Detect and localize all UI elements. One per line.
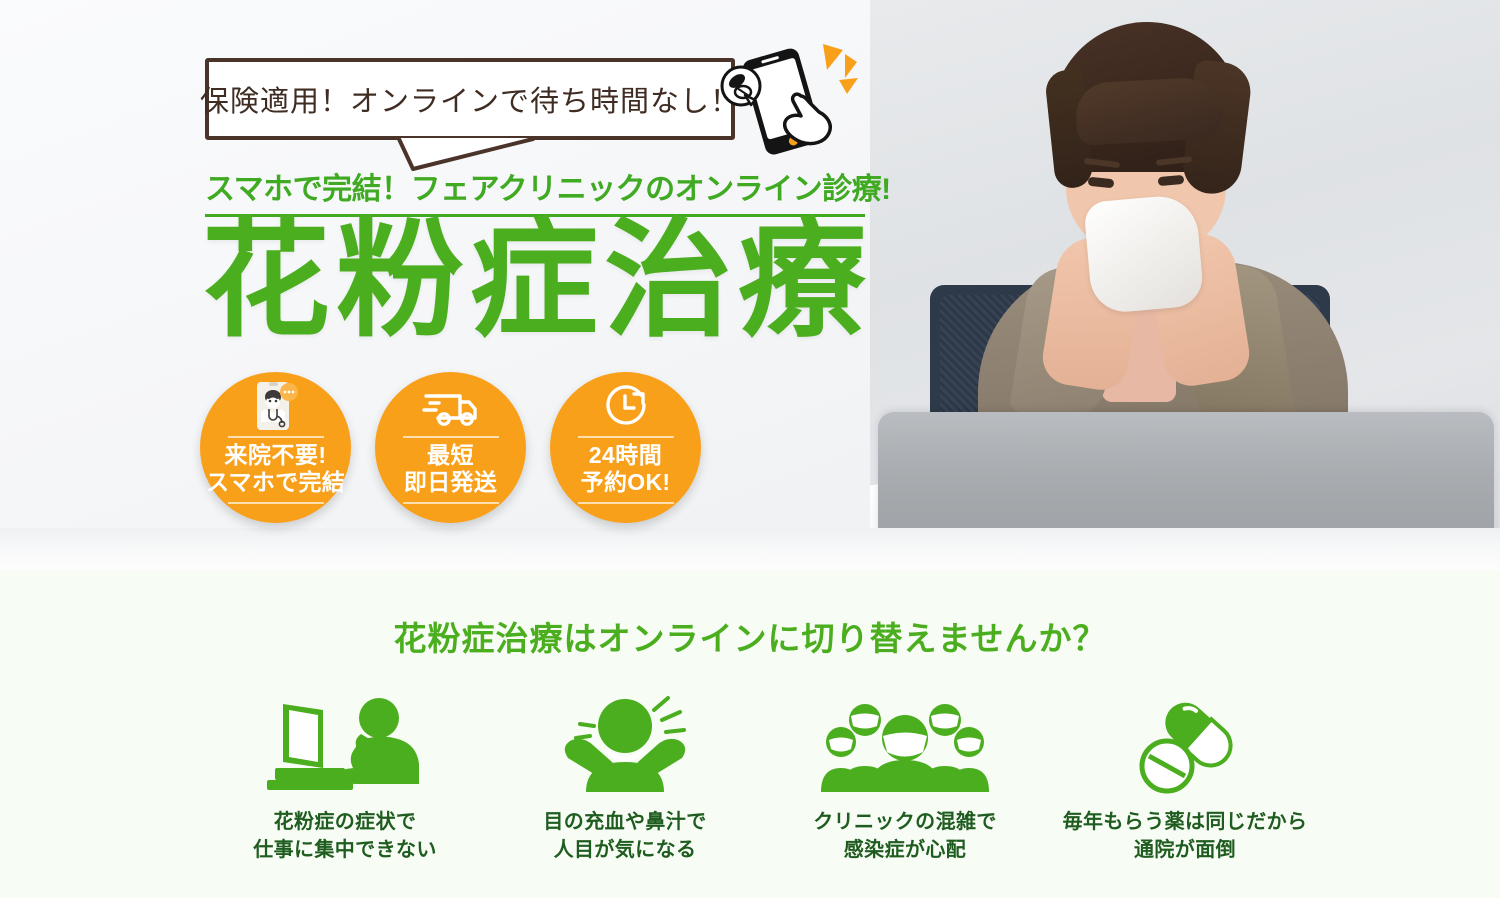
speech-bubble-box: 保険適用！オンラインで待ち時間なし！ xyxy=(205,58,735,140)
section-title: 花粉症治療はオンラインに切り替えませんか？ xyxy=(0,612,1500,660)
badge-line2: 即日発送 xyxy=(404,469,497,497)
pain-point-label: クリニックの混雑で 感染症が心配 xyxy=(813,808,997,865)
pain-points-section: 花粉症治療はオンラインに切り替えませんか？ xyxy=(0,570,1500,898)
badge-divider-bottom xyxy=(403,502,499,504)
pain-point-label: 花粉症の症状で 仕事に集中できない xyxy=(253,808,437,865)
hair-fringe xyxy=(1074,76,1223,146)
pain-point-line1: 目の充血や鼻汁で xyxy=(543,811,706,833)
hero-section: 保険適用！オンラインで待ち時間なし！ スマホ xyxy=(0,0,1500,570)
pain-point-line2: 感染症が心配 xyxy=(844,839,966,861)
pain-point-label: 目の充血や鼻汁で 人目が気になる xyxy=(543,808,706,865)
delivery-truck-icon xyxy=(422,380,480,434)
badge-line1: 24時間 xyxy=(589,443,663,469)
pain-point-line2: 通院が面倒 xyxy=(1134,839,1236,861)
badge-divider-top xyxy=(578,436,674,438)
pain-point-item: 目の充血や鼻汁で 人目が気になる xyxy=(500,692,750,865)
hero-headline: 花粉症治療 xyxy=(202,212,872,350)
badge-24h-reservation[interactable]: 24時間 予約OK! xyxy=(550,372,701,523)
badge-same-day-shipping[interactable]: 最短 即日発送 xyxy=(375,372,526,523)
smartphone-doctor-icon xyxy=(254,380,298,434)
pain-point-list: 花粉症の症状で 仕事に集中できない xyxy=(220,692,1310,865)
hero-badge-list: 来院不要! スマホで完結 xyxy=(200,372,701,523)
pain-point-item: 毎年もらう薬は同じだから 通院が面倒 xyxy=(1060,692,1310,865)
pills-capsule-icon xyxy=(1121,692,1249,796)
badge-divider-bottom xyxy=(578,502,674,504)
itchy-eyes-person-icon xyxy=(550,692,700,796)
speech-bubble-text: 保険適用！オンラインで待ち時間なし！ xyxy=(200,78,740,120)
tissue xyxy=(1083,193,1204,314)
person-at-desk-icon xyxy=(261,692,429,796)
landing-page: 保険適用！オンラインで待ち時間なし！ スマホ xyxy=(0,0,1500,898)
badge-divider-top xyxy=(403,436,499,438)
badge-no-visit-required[interactable]: 来院不要! スマホで完結 xyxy=(200,372,351,523)
hero-photo xyxy=(870,0,1500,570)
speech-bubble: 保険適用！オンラインで待ち時間なし！ xyxy=(205,58,735,140)
pain-point-label: 毎年もらう薬は同じだから 通院が面倒 xyxy=(1063,808,1308,865)
badge-divider-top xyxy=(228,436,324,438)
badge-divider-bottom xyxy=(228,502,324,504)
clock-arrow-icon xyxy=(601,380,651,434)
pain-point-item: クリニックの混雑で 感染症が心配 xyxy=(780,692,1030,865)
pain-point-item: 花粉症の症状で 仕事に集中できない xyxy=(220,692,470,865)
smartphone-tap-pill-icon xyxy=(715,38,860,168)
badge-line1: 来院不要! xyxy=(224,443,326,469)
badge-line2: スマホで完結 xyxy=(206,469,345,497)
crowd-masks-icon xyxy=(821,692,989,796)
pain-point-line1: 花粉症の症状で xyxy=(274,811,417,833)
badge-line1: 最短 xyxy=(427,443,474,469)
badge-line2: 予約OK! xyxy=(581,469,671,497)
desk-surface xyxy=(0,528,1500,570)
pain-point-line1: 毎年もらう薬は同じだから xyxy=(1063,811,1308,833)
pain-point-line2: 人目が気になる xyxy=(554,839,697,861)
pain-point-line2: 仕事に集中できない xyxy=(253,839,437,861)
pain-point-line1: クリニックの混雑で xyxy=(813,811,997,833)
